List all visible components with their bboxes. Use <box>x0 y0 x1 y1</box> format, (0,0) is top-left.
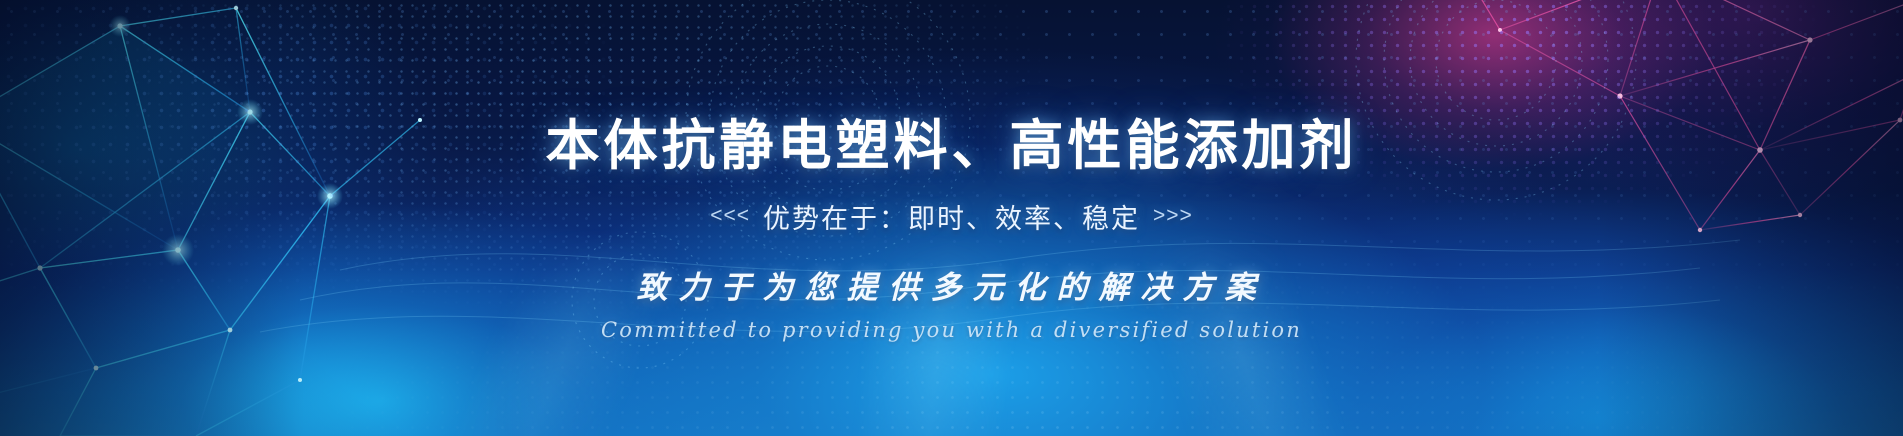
banner-subtitle: <<< 优势在于：即时、效率、稳定 >>> <box>710 197 1193 236</box>
banner-headline: 本体抗静电塑料、高性能添加剂 <box>546 118 1358 175</box>
hero-banner: 本体抗静电塑料、高性能添加剂 <<< 优势在于：即时、效率、稳定 >>> 致力于… <box>0 0 1903 436</box>
banner-slogan-en: Committed to providing you with a divers… <box>601 318 1302 342</box>
chevron-left-icon: <<< <box>710 204 750 228</box>
banner-slogan-cn: 致力于为您提供多元化的解决方案 <box>637 262 1267 307</box>
chevron-right-icon: >>> <box>1153 204 1193 228</box>
banner-text-block: 本体抗静电塑料、高性能添加剂 <<< 优势在于：即时、效率、稳定 >>> 致力于… <box>0 0 1903 436</box>
banner-subtitle-text: 优势在于：即时、效率、稳定 <box>763 197 1140 236</box>
